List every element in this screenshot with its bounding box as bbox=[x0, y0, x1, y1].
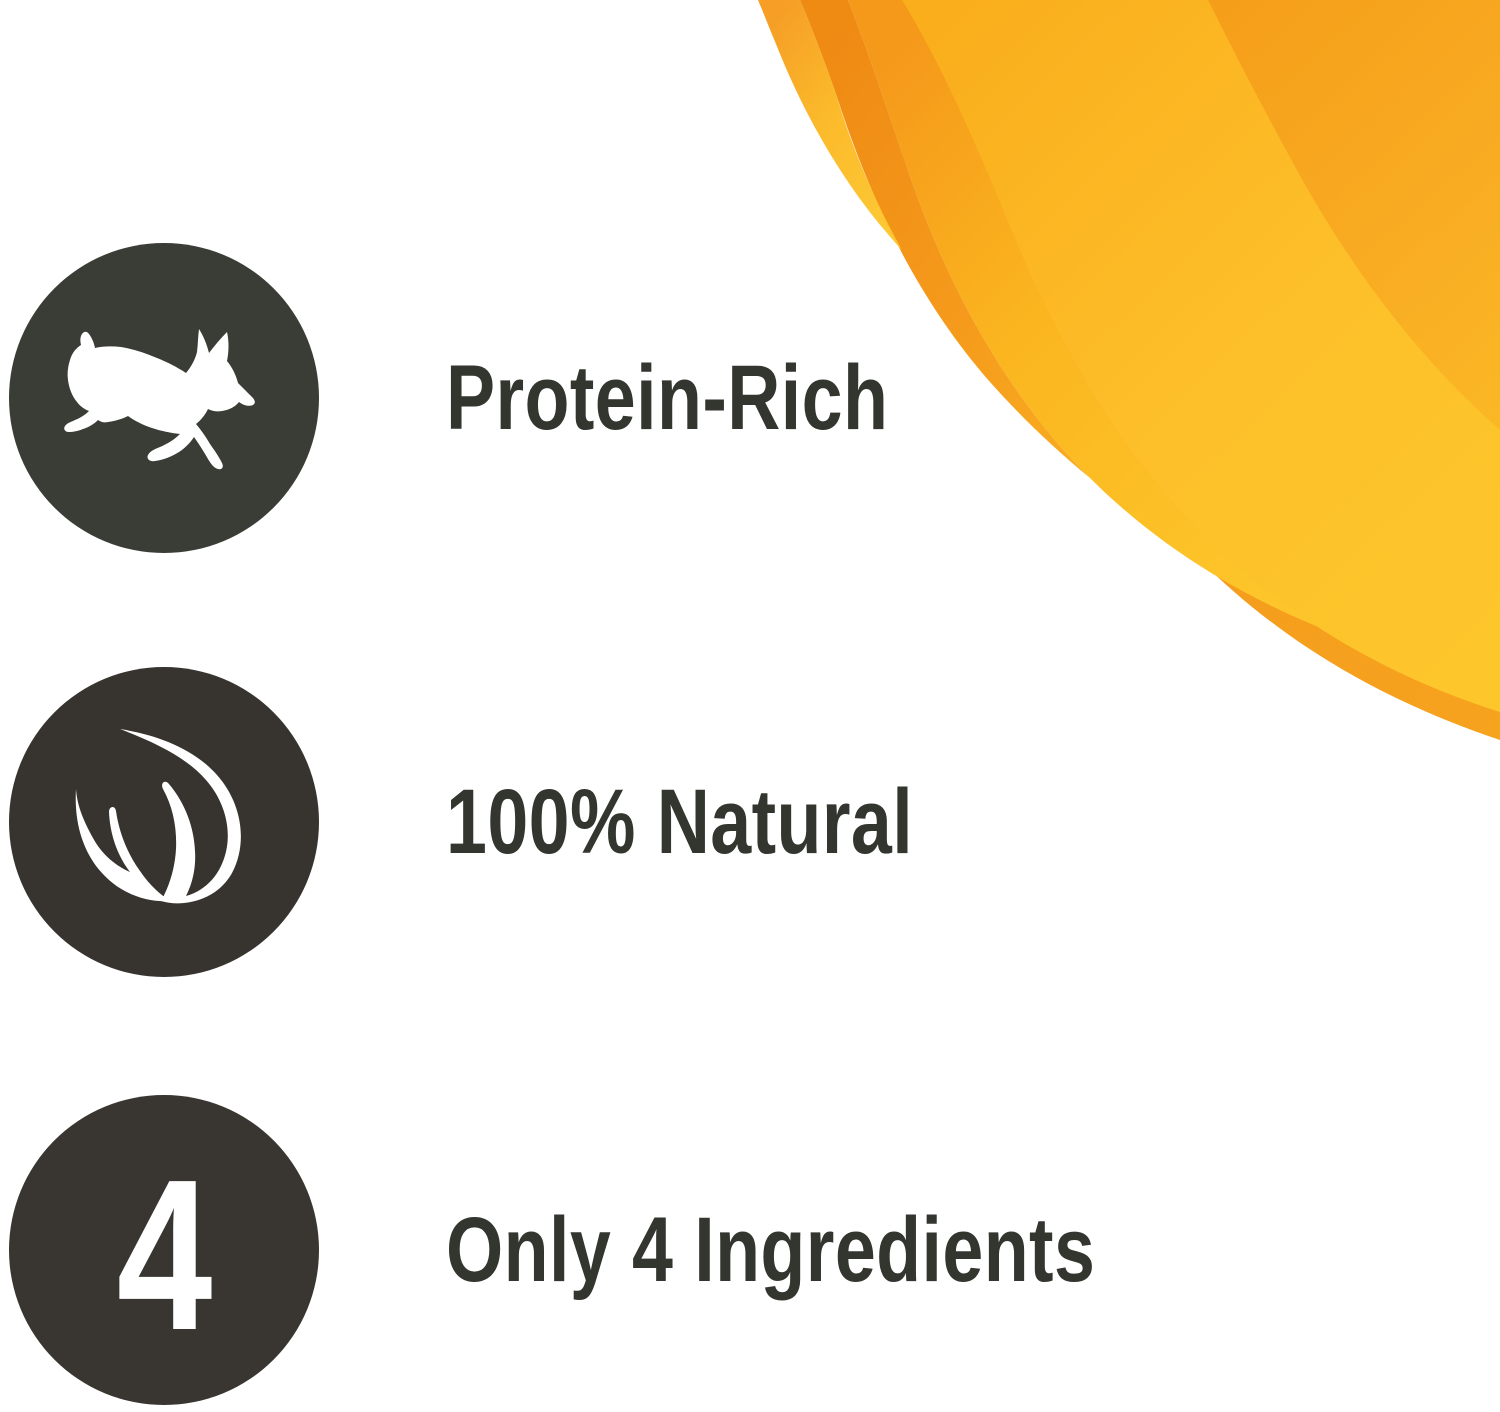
feature-badge bbox=[9, 243, 319, 553]
feature-label: Protein-Rich bbox=[446, 352, 888, 444]
jumping-dog-icon bbox=[49, 323, 279, 473]
feature-badge: 4 bbox=[9, 1095, 319, 1405]
number-four-icon: 4 bbox=[117, 1147, 211, 1362]
feature-row: 4 Only 4 Ingredients bbox=[0, 1095, 1200, 1405]
feature-row: 100% Natural bbox=[0, 667, 1200, 977]
feature-label: 100% Natural bbox=[446, 776, 913, 868]
feature-label: Only 4 Ingredients bbox=[446, 1204, 1095, 1296]
leaf-icon bbox=[54, 717, 274, 927]
feature-highlights-panel: Protein-Rich 100% Natural 4 Only 4 Ingre… bbox=[0, 0, 1500, 1412]
feature-row: Protein-Rich bbox=[0, 243, 1200, 553]
feature-badge bbox=[9, 667, 319, 977]
